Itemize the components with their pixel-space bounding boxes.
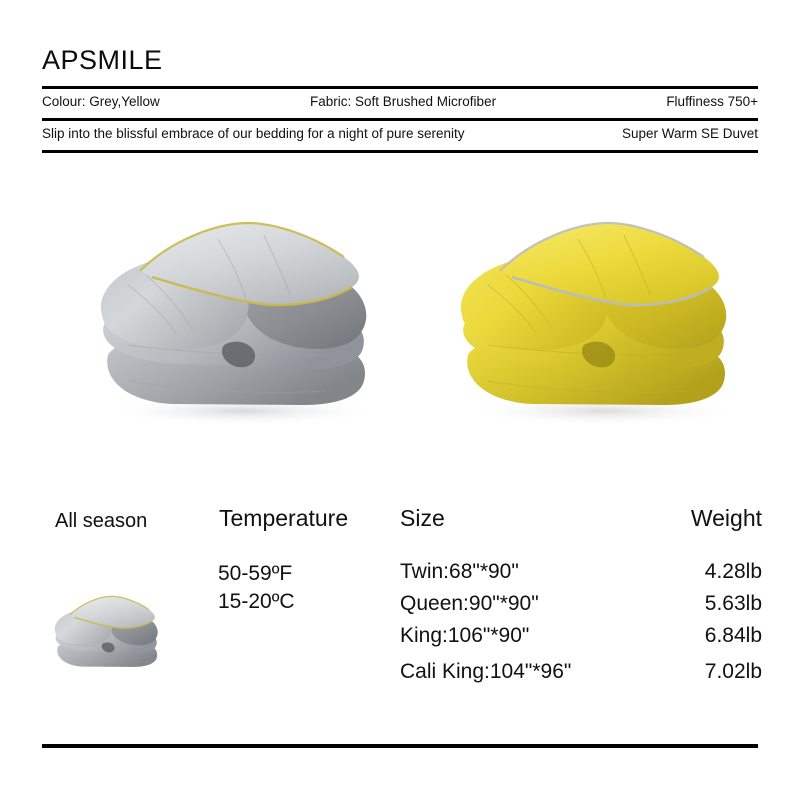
spec-colour: Colour: Grey,Yellow xyxy=(42,86,160,118)
weight-row-cali-king: 7.02lb xyxy=(602,656,762,688)
divider-lower xyxy=(42,150,758,153)
weight-row-queen: 5.63lb xyxy=(602,588,762,620)
spec-tagline: Slip into the blissful embrace of our be… xyxy=(42,118,465,150)
hero-image-row xyxy=(0,205,800,435)
weight-row-twin: 4.28lb xyxy=(602,556,762,588)
divider-bottom xyxy=(42,744,758,748)
column-header-temperature: Temperature xyxy=(219,505,348,531)
temperature-values: 50-59ºF 15-20ºC xyxy=(218,560,295,616)
temperature-celsius: 15-20ºC xyxy=(218,588,295,616)
spec-row-tagline: Slip into the blissful embrace of our be… xyxy=(42,118,758,150)
spec-fabric: Fabric: Soft Brushed Microfiber xyxy=(310,86,496,118)
specification-table: All season Temperature Size Weight xyxy=(0,488,800,708)
duvet-thumbnail-image xyxy=(42,588,170,680)
spec-fluffiness: Fluffiness 750+ xyxy=(666,86,758,118)
yellow-duvet-image xyxy=(428,205,758,435)
spec-product-name: Super Warm SE Duvet xyxy=(622,118,758,150)
temperature-fahrenheit: 50-59ºF xyxy=(218,560,295,588)
column-header-season: All season xyxy=(55,508,147,534)
grey-duvet-image xyxy=(68,205,398,435)
product-infographic-page: APSMILE Colour: Grey,Yellow Fabric: Soft… xyxy=(0,0,800,800)
weight-row-king: 6.84lb xyxy=(602,620,762,652)
weight-values: 4.28lb 5.63lb 6.84lb 7.02lb xyxy=(602,556,762,688)
column-header-weight: Weight xyxy=(691,505,762,531)
brand-title: APSMILE xyxy=(42,45,163,75)
column-header-size: Size xyxy=(400,505,445,531)
spec-row-attributes: Colour: Grey,Yellow Fabric: Soft Brushed… xyxy=(42,86,758,118)
